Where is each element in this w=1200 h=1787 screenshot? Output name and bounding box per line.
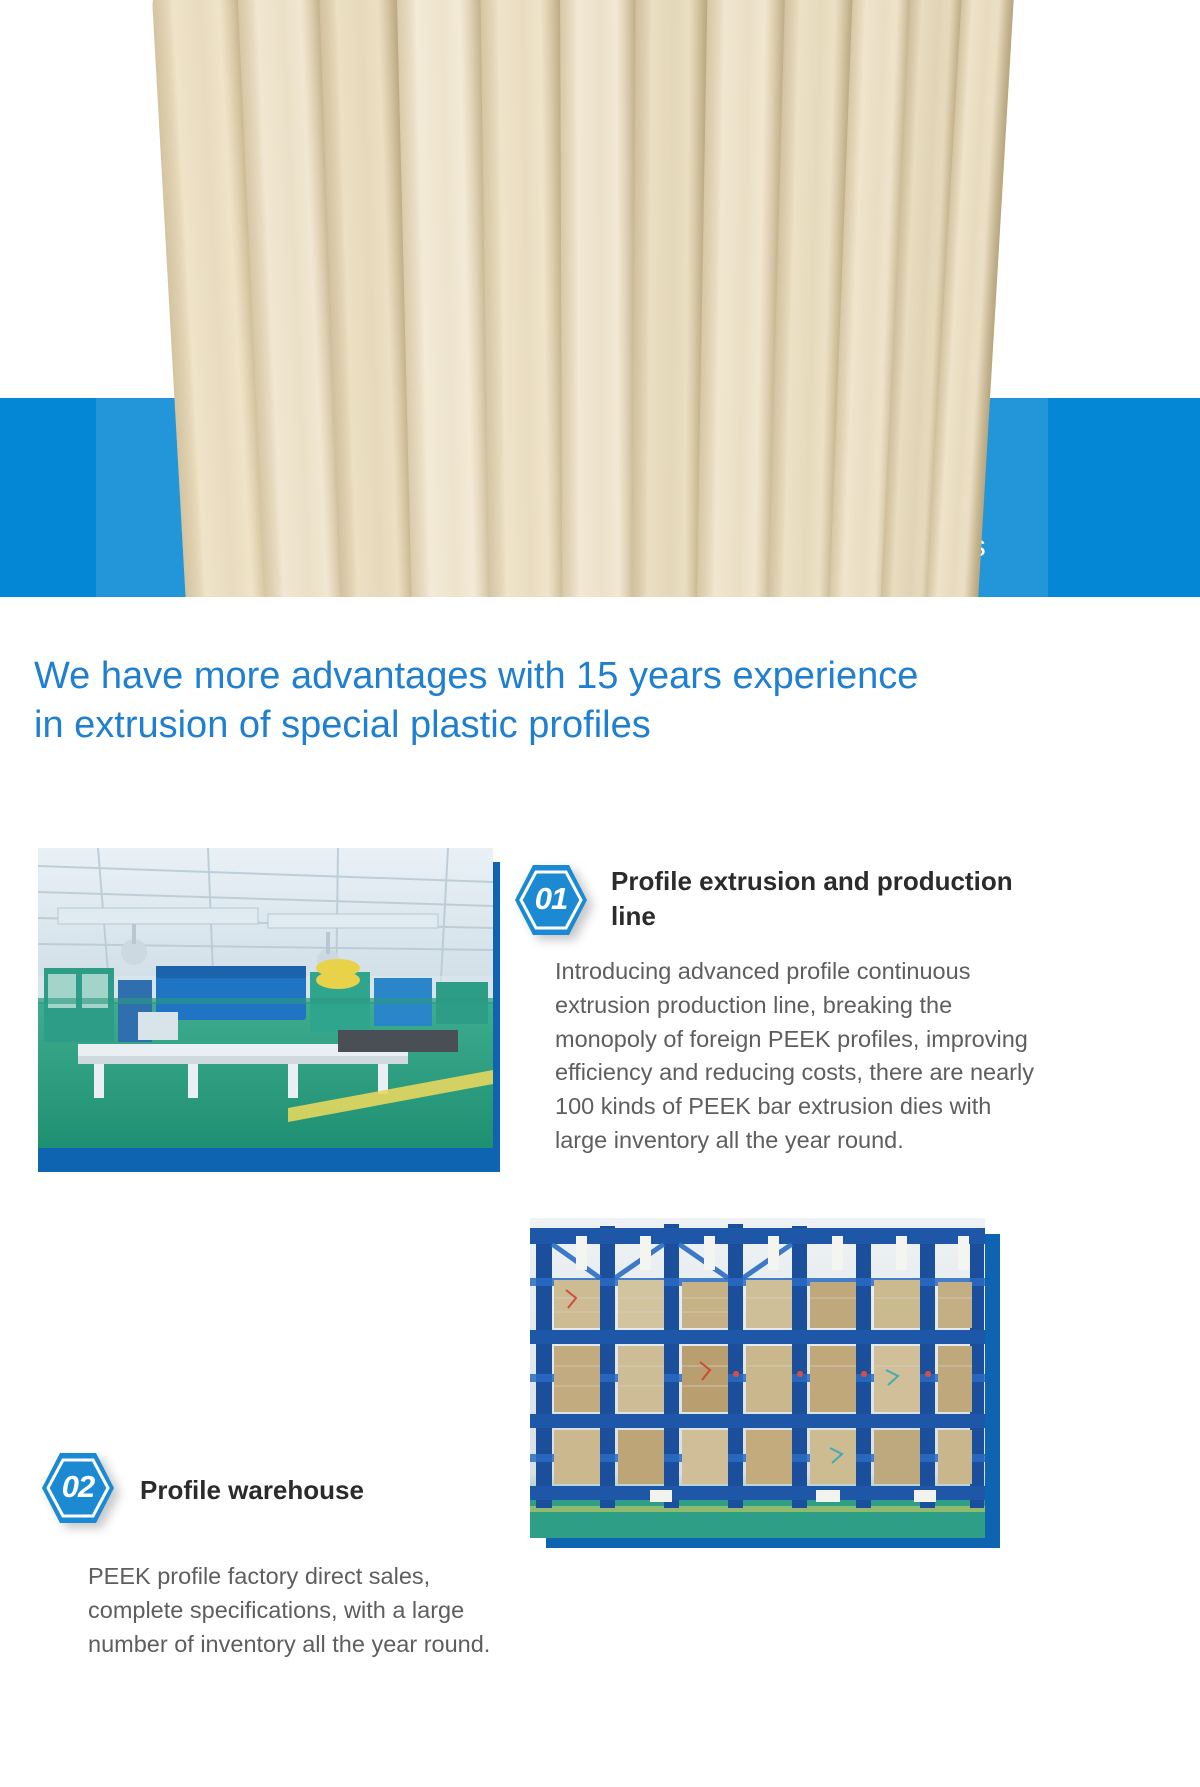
feature-1-number: 01: [513, 862, 589, 938]
headline-line-2: in extrusion of special plastic profiles: [34, 701, 1074, 750]
peek-rod: [560, 0, 640, 597]
peek-rods-illustration: [96, 0, 1048, 597]
feature-1-title: Profile extrusion and production line: [611, 864, 1041, 933]
peek-rod: [480, 0, 572, 597]
feature-2-number: 02: [40, 1450, 116, 1526]
feature-1-body: Introducing advanced profile continuous …: [555, 955, 1035, 1158]
feature-1-image-frame: [38, 848, 500, 1158]
feature-2-title: Profile warehouse: [140, 1473, 520, 1508]
feature-2-badge: 02: [40, 1450, 116, 1526]
hero-rods-image: [96, 0, 1048, 597]
feature-1-photo: [38, 848, 493, 1148]
extrusion-line-illustration: [38, 848, 493, 1148]
feature-2-body: PEEK profile factory direct sales, compl…: [88, 1560, 528, 1661]
feature-2-photo: [530, 1218, 985, 1538]
warehouse-rack-illustration: [530, 1218, 985, 1538]
section-headline: We have more advantages with 15 years ex…: [34, 652, 1074, 749]
headline-line-1: We have more advantages with 15 years ex…: [34, 652, 1074, 701]
feature-2-image-frame: [530, 1218, 1000, 1548]
feature-1-badge: 01: [513, 862, 589, 938]
hero-section: PEEK rods Used for processing PEEK parts…: [0, 0, 1200, 676]
